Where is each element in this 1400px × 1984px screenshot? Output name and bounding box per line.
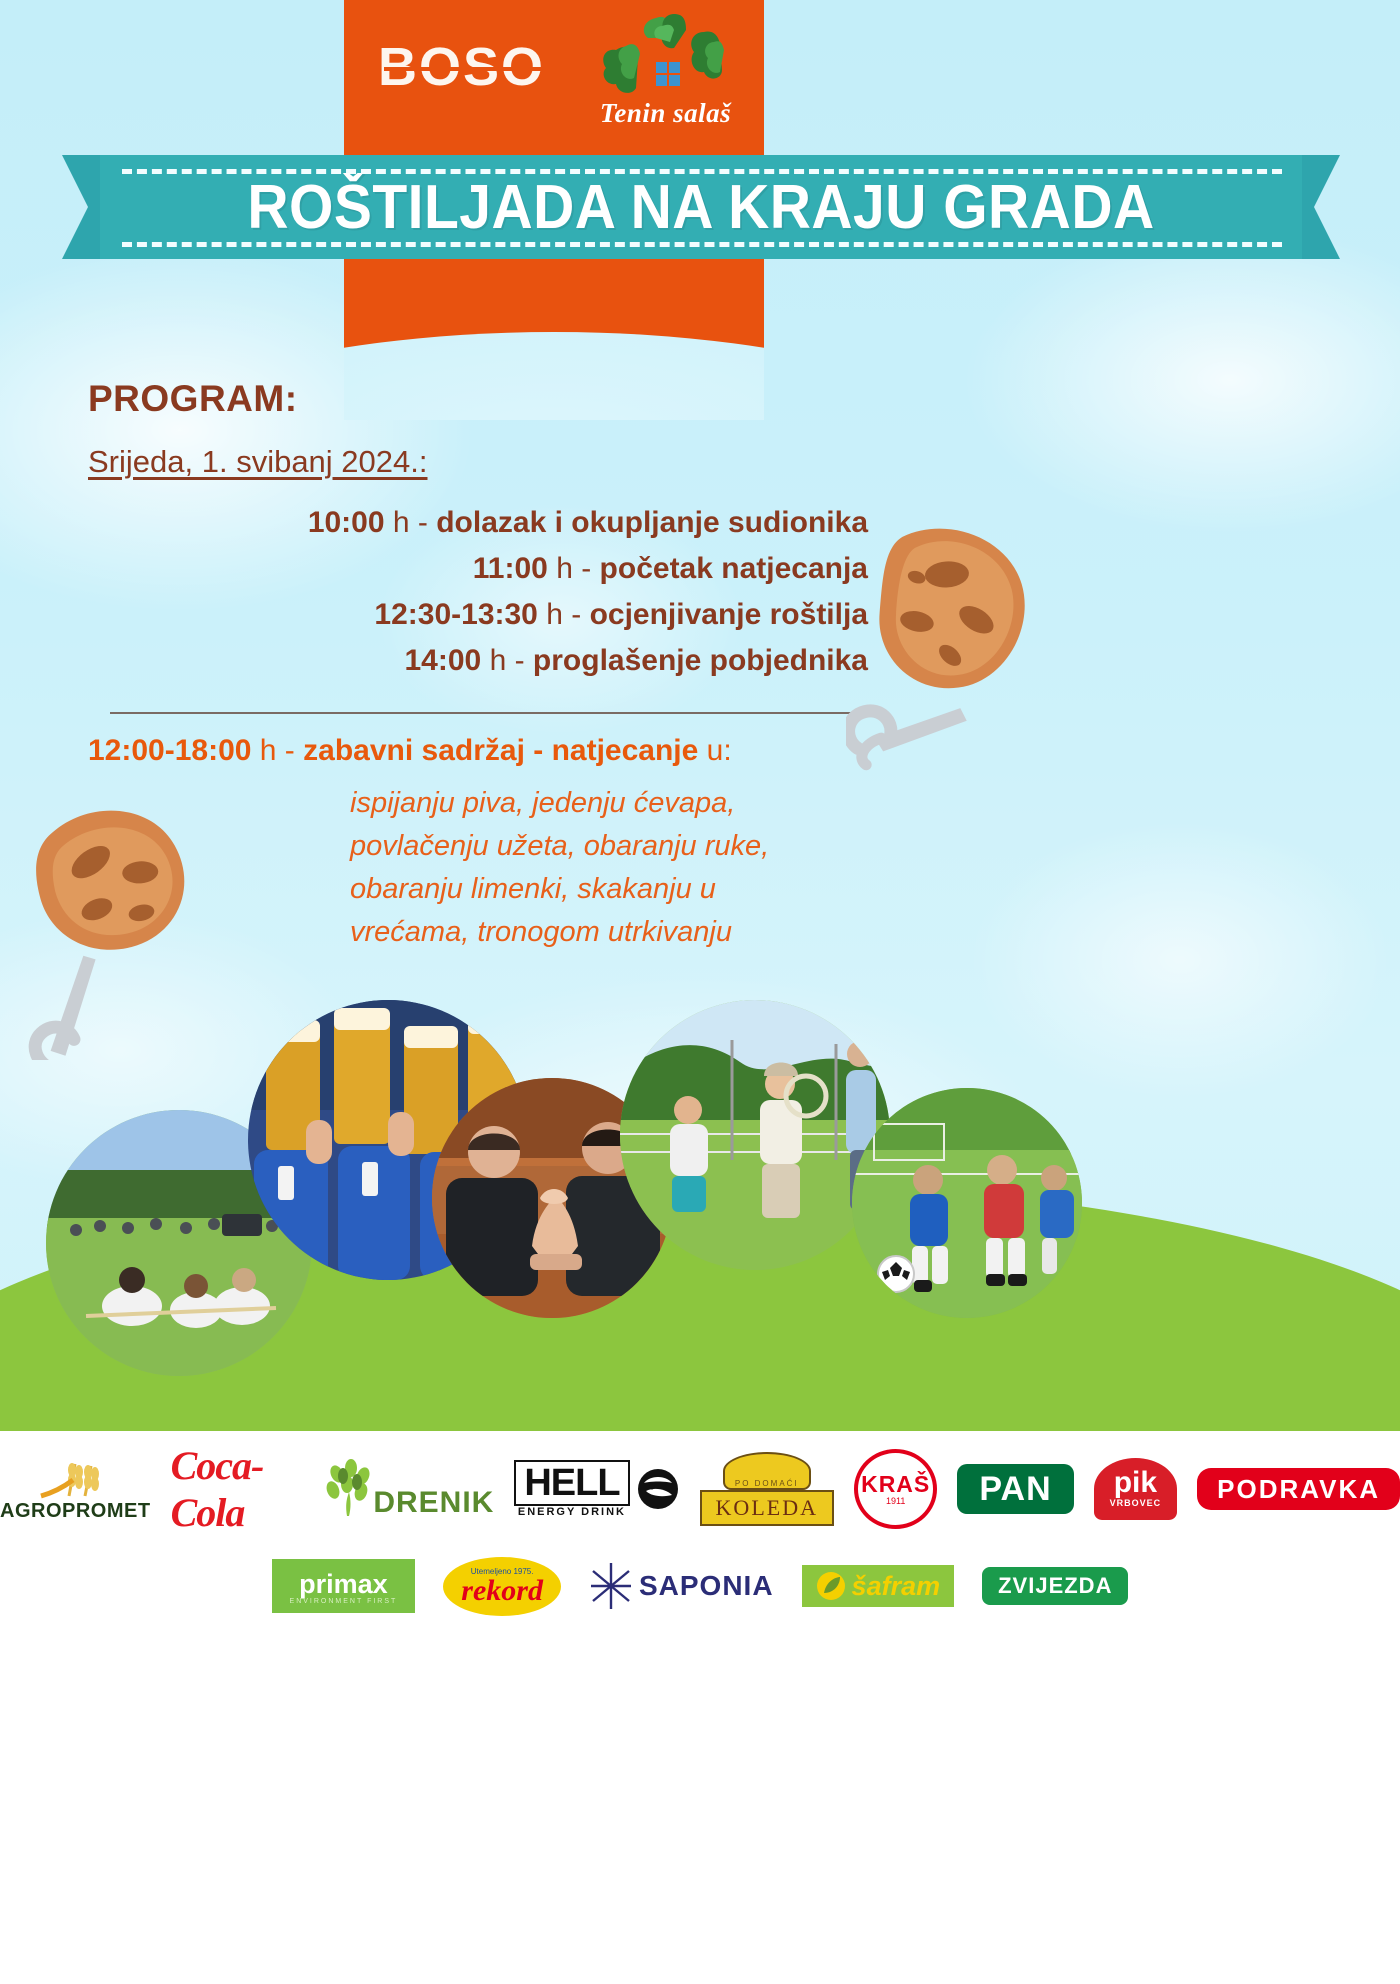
wheat-icon — [39, 1456, 111, 1500]
title-ribbon: ROŠTILJADA NA KRAJU GRADA — [62, 155, 1340, 259]
boso-logo-strike — [384, 67, 560, 71]
sponsor-strip: AGROPROMET Coca-Cola — [0, 1424, 1400, 1984]
activity-line: vrećama, tronogom utrkivanju — [350, 911, 878, 954]
sponsor-drenik: DRENIK — [321, 1458, 494, 1520]
sponsor-label: PAN — [979, 1472, 1051, 1506]
sausage-on-fork-icon — [0, 800, 240, 1060]
sponsor-label: AGROPROMET — [0, 1500, 151, 1523]
schedule-divider — [110, 712, 856, 714]
sponsor-koleda: PO DOMAĆI KOLEDA — [700, 1452, 834, 1526]
sponsor-coca-cola: Coca-Cola — [171, 1442, 302, 1536]
sponsor-sublabel: PO DOMAĆI — [735, 1479, 799, 1488]
devil-icon — [636, 1467, 680, 1511]
schedule-separator: h - — [385, 506, 437, 539]
schedule-separator: h - — [481, 644, 533, 677]
program-heading: PROGRAM: — [88, 378, 298, 420]
sponsor-row-1: AGROPROMET Coca-Cola — [0, 1441, 1400, 1537]
sponsor-rekord: Utemeljeno 1975. rekord — [443, 1557, 561, 1616]
sponsor-primax: primax ENVIRONMENT FIRST — [272, 1559, 416, 1613]
schedule-time: 14:00 — [405, 644, 482, 677]
evening-separator: h - — [251, 734, 303, 767]
sponsor-label: HELL — [524, 1464, 619, 1502]
tenin-salas-label: Tenin salaš — [578, 98, 753, 129]
evening-heading: 12:00-18:00 h - zabavni sadržaj - natjec… — [88, 734, 878, 768]
sponsor-pan: PAN — [957, 1464, 1073, 1514]
schedule-time: 10:00 — [308, 506, 385, 539]
sponsor-label: PODRAVKA — [1217, 1476, 1380, 1502]
sponsor-label: šafram — [852, 1573, 941, 1600]
sponsor-label: rekord — [461, 1576, 543, 1606]
activity-line: ispijanju piva, jedenju ćevapa, — [350, 782, 878, 825]
tree-icon — [321, 1458, 373, 1520]
poster-title: ROŠTILJADA NA KRAJU GRADA — [148, 177, 1254, 239]
schedule-row: 12:30-13:30 h - ocjenjivanje roštilja — [88, 592, 868, 638]
sponsor-safram: šafram — [802, 1565, 955, 1607]
program-date: Srijeda, 1. svibanj 2024.: — [88, 444, 428, 480]
sponsor-label: Coca-Cola — [171, 1442, 302, 1536]
boso-logo: BOSO — [378, 36, 568, 98]
schedule-row: 11:00 h - početak natjecanja — [88, 546, 868, 592]
koleda-logo-box: KOLEDA — [700, 1490, 834, 1526]
tree-house-logo-icon — [578, 8, 753, 108]
schedule-time: 11:00 — [473, 552, 548, 585]
sponsor-zvijezda: ZVIJEZDA — [982, 1567, 1128, 1605]
schedule-description: dolazak i okupljanje sudionika — [436, 506, 868, 539]
schedule-row: 10:00 h - dolazak i okupljanje sudionika — [88, 500, 868, 546]
sponsor-sublabel: VRBOVEC — [1110, 1498, 1162, 1508]
schedule-description: ocjenjivanje roštilja — [590, 598, 868, 631]
schedule-time: 12:30-13:30 — [374, 598, 537, 631]
evening-description: zabavni sadržaj - natjecanje — [303, 734, 698, 767]
sponsor-agropromet: AGROPROMET — [0, 1456, 151, 1523]
schedule-description: početak natjecanja — [600, 552, 868, 585]
sponsor-label: ZVIJEZDA — [998, 1575, 1112, 1597]
ribbon-body: ROŠTILJADA NA KRAJU GRADA — [100, 155, 1302, 259]
sponsor-pik: pik VRBOVEC — [1094, 1458, 1178, 1520]
football-photo — [852, 1088, 1082, 1318]
leaf-icon — [816, 1571, 846, 1601]
tenin-salas-logo: Tenin salaš — [578, 8, 753, 138]
sponsor-saponia: SAPONIA — [589, 1561, 774, 1611]
sponsor-label: KOLEDA — [716, 1495, 818, 1521]
schedule-row: 14:00 h - proglašenje pobjednika — [88, 638, 868, 684]
sponsor-label: DRENIK — [373, 1486, 494, 1520]
sponsor-row-2: primax ENVIRONMENT FIRST Utemeljeno 1975… — [0, 1541, 1400, 1631]
schedule-list: 10:00 h - dolazak i okupljanje sudionika… — [88, 500, 868, 684]
ribbon-dash-bottom — [122, 242, 1282, 247]
evening-time: 12:00-18:00 — [88, 734, 251, 767]
sponsor-sublabel: ENVIRONMENT FIRST — [290, 1598, 398, 1605]
schedule-separator: h - — [538, 598, 590, 631]
sponsor-label: KRAŠ — [861, 1473, 930, 1496]
badminton-photo — [620, 1000, 890, 1270]
activity-line: povlačenju užeta, obaranju ruke, — [350, 825, 878, 868]
sponsor-label: SAPONIA — [639, 1570, 774, 1602]
sausage-on-fork-icon — [846, 524, 1096, 794]
hell-logo-box: HELL — [514, 1460, 629, 1506]
activity-line: obaranju limenki, skakanju u — [350, 868, 878, 911]
schedule-description: proglašenje pobjednika — [533, 644, 868, 677]
sponsor-label: pik — [1114, 1468, 1157, 1498]
header-arc-cutout — [344, 332, 764, 420]
schedule-separator: h - — [548, 552, 600, 585]
sponsor-sublabel: 1911 — [886, 1496, 905, 1506]
sponsor-hell: HELL ENERGY DRINK — [514, 1460, 679, 1518]
sponsor-kras: KRAŠ 1911 — [854, 1449, 937, 1529]
star-flower-icon — [589, 1561, 633, 1611]
sponsor-sublabel: ENERGY DRINK — [518, 1506, 626, 1518]
evening-suffix: u: — [698, 734, 731, 767]
sponsor-podravka: PODRAVKA — [1197, 1468, 1400, 1510]
sponsor-label: primax — [299, 1571, 388, 1598]
